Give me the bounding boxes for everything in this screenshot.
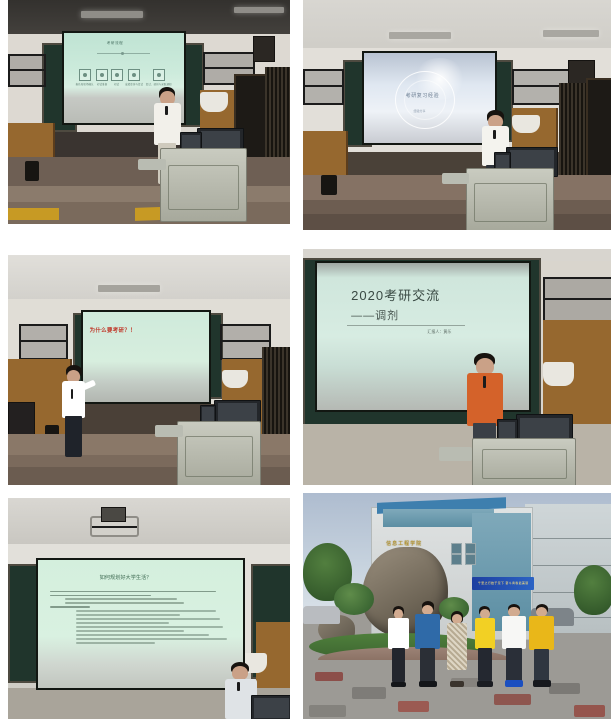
bullet-line — [50, 595, 151, 597]
presenter-photo-3 — [59, 365, 90, 457]
ceiling-lamp — [543, 30, 598, 37]
presenter-legs — [65, 416, 82, 457]
ceiling — [303, 0, 611, 51]
bullet-line — [50, 591, 216, 593]
bullet-line — [65, 602, 184, 604]
slide-subtitle: ——调剂 — [351, 307, 399, 323]
photo-5-university-life-slide: 如何规划好大学生活？ — [8, 498, 290, 719]
projector-body — [101, 507, 126, 522]
stage-step — [8, 186, 290, 202]
lecture-hall-scene: 2020考研交流 ——调剂 汇报人：黄乐 — [303, 249, 611, 485]
slide-title: 考研流程 — [107, 41, 123, 46]
ceiling-lamp — [389, 32, 451, 39]
bullet-line — [50, 606, 90, 608]
bullet-line — [76, 638, 227, 640]
paving-stone — [315, 672, 343, 681]
slide-title: 2020考研交流 — [351, 285, 440, 304]
person-top — [388, 618, 409, 649]
projection-screen-frame: 为什么要考研？！ — [81, 310, 211, 404]
trash-bin — [321, 175, 336, 196]
lecture-hall-scene: 考研复习经验 经验分享 — [303, 0, 611, 230]
person-shoes — [450, 681, 464, 687]
process-icon — [96, 69, 108, 81]
slide-subtitle: 经验分享 — [413, 109, 425, 113]
microphone — [237, 682, 240, 691]
wall-speaker — [253, 36, 275, 63]
slide-divider — [347, 325, 465, 326]
person-bottom — [534, 649, 550, 681]
slide-byline: 汇报人：黄乐 — [427, 329, 451, 335]
wall-sink — [512, 115, 540, 133]
person-shoes — [391, 682, 407, 688]
person-shoes — [419, 681, 437, 687]
equipment-tray — [138, 159, 166, 170]
photo-3-why-postgraduate-slide: 为什么要考研？！ — [8, 255, 290, 485]
bullet-line — [76, 614, 180, 616]
microphone — [493, 130, 496, 140]
person-top — [502, 616, 526, 649]
process-step: 成绩查询与复试 — [125, 69, 143, 86]
ceiling-lamp — [234, 7, 285, 14]
paving-stone — [352, 687, 386, 698]
paving-stone — [398, 701, 429, 712]
projection-screen: 为什么要考研？！ — [83, 312, 209, 402]
process-step: 初试准备 — [96, 69, 108, 86]
lectern-podium — [177, 421, 261, 485]
building-window — [465, 543, 476, 554]
person-bottom — [392, 648, 406, 682]
paving-stone — [574, 705, 605, 716]
trash-bin — [25, 161, 39, 181]
bullet-line — [76, 642, 155, 644]
student-desk — [8, 208, 59, 219]
slide-title: 如何规划好大学生活？ — [100, 574, 152, 581]
wall-sink — [543, 362, 574, 386]
photo-1-lecture-process-slide: 考研流程 报名和现场确认 初试准备 — [8, 0, 290, 224]
bullet-line — [76, 630, 184, 632]
presenter-head — [232, 666, 248, 680]
photo-collage: 考研流程 报名和现场确认 初试准备 — [0, 0, 611, 719]
person-shoes — [505, 680, 524, 687]
group-person-2 — [414, 601, 442, 687]
microphone — [483, 376, 486, 388]
process-step: 复试、调剂与录取通知 — [146, 69, 172, 86]
storage-rack-right — [543, 277, 611, 323]
projection-screen: 如何规划好大学生活？ — [38, 560, 243, 689]
wall-grille — [262, 347, 290, 444]
ceiling — [8, 255, 290, 301]
storage-rack-left — [303, 69, 344, 105]
equipment-tray — [155, 425, 183, 437]
process-step-label: 初试准备 — [96, 82, 108, 86]
storage-rack-left — [8, 54, 46, 87]
group-person-5 — [500, 604, 528, 688]
group-person-3 — [445, 611, 470, 688]
person-bottom — [506, 648, 522, 681]
process-step-label: 成绩查询与复试 — [125, 82, 143, 86]
photo-2-lecture-title-slide: 考研复习经验 经验分享 — [303, 0, 611, 230]
lecture-hall-scene: 为什么要考研？！ — [8, 255, 290, 485]
building-window — [451, 554, 462, 565]
bullet-line — [76, 622, 170, 624]
tree-right — [574, 565, 611, 615]
equipment-tray — [442, 173, 470, 185]
paving-stone — [494, 694, 531, 705]
slide-title: 考研复习经验 — [406, 92, 440, 99]
bullet-line — [76, 634, 209, 636]
ceiling-lamp — [98, 285, 160, 292]
bullet-line — [76, 618, 220, 620]
paving-stone — [309, 705, 346, 716]
process-step: 初试 — [111, 69, 123, 86]
projection-screen-frame: 考研复习经验 经验分享 — [362, 51, 498, 145]
slide-process-row: 报名和现场确认 初试准备 初试 成绩查询与复试 — [76, 69, 172, 86]
lectern-podium — [160, 148, 247, 222]
projection-screen-frame: 如何规划好大学生活？ — [36, 558, 245, 691]
process-icon — [153, 69, 165, 81]
lectern-podium — [466, 168, 554, 230]
storage-rack-left — [19, 324, 68, 360]
person-top — [529, 616, 553, 649]
building-window — [465, 554, 476, 565]
equipment-tray — [439, 447, 473, 461]
wall-sink — [222, 370, 247, 388]
presenter-head — [476, 358, 494, 374]
bullet-line — [76, 610, 217, 612]
lecture-hall-scene-wide: 如何规划好大学生活？ — [8, 498, 290, 719]
person-top — [415, 614, 440, 648]
lectern-podium — [472, 438, 576, 485]
slide-ring-inner — [404, 80, 445, 120]
process-icon — [128, 69, 140, 81]
person-shoes — [477, 681, 493, 688]
group-person-1 — [386, 606, 411, 687]
campus-banner: 千里之行始于足下 奋斗青春最美丽 — [472, 577, 534, 591]
bullet-line — [76, 626, 224, 628]
slide-title: 为什么要考研？！ — [90, 326, 136, 334]
stage-step — [303, 214, 611, 230]
wall-sink — [200, 92, 228, 112]
photo-4-2020-exchange-slide: 2020考研交流 ——调剂 汇报人：黄乐 — [303, 249, 611, 485]
microphone — [71, 389, 73, 399]
group-person-4 — [472, 606, 497, 687]
person-bottom — [420, 648, 436, 682]
person-shoes — [533, 680, 551, 687]
ceiling — [8, 498, 290, 547]
campus-banner-text: 千里之行始于足下 奋斗青春最美丽 — [478, 581, 529, 585]
person-top — [475, 618, 495, 649]
person-bottom — [478, 648, 492, 681]
building-window — [451, 543, 462, 554]
process-icon — [111, 69, 123, 81]
podium-monitor — [251, 695, 290, 719]
building-floor-line — [525, 538, 611, 539]
person-dress — [447, 623, 467, 671]
ceiling-lamp — [81, 11, 143, 18]
group-person-6 — [528, 604, 556, 688]
timeline-dot — [121, 52, 124, 55]
photo-6-group-photo-campus: 信息工程学院 千里之行始于足下 奋斗青春最美丽 — [303, 493, 611, 719]
microphone — [165, 106, 168, 116]
process-step: 报名和现场确认 — [76, 69, 94, 86]
bullet-line — [65, 598, 177, 600]
process-icon — [79, 69, 91, 81]
process-step-label: 初试 — [111, 82, 123, 86]
outdoor-campus-scene: 信息工程学院 千里之行始于足下 奋斗青春最美丽 — [303, 493, 611, 719]
process-step-label: 报名和现场确认 — [76, 82, 94, 86]
lecture-hall-scene: 考研流程 报名和现场确认 初试准备 — [8, 0, 290, 224]
slide-bullet-block — [50, 591, 230, 647]
parked-car-left — [303, 606, 340, 624]
process-step-label: 复试、调剂与录取通知 — [146, 82, 172, 86]
projection-screen: 考研复习经验 经验分享 — [364, 53, 496, 143]
